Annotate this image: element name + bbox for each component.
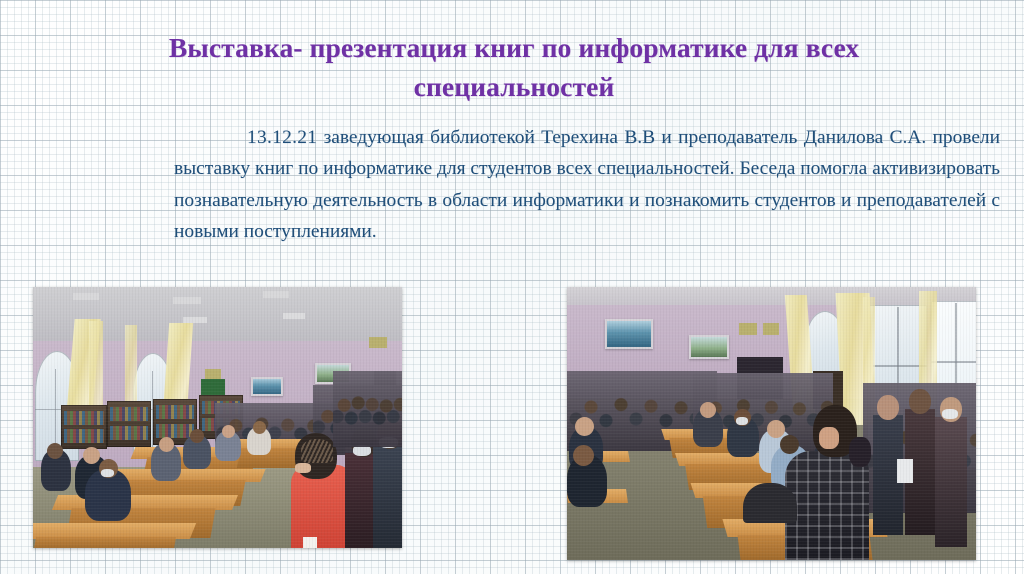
- photo-left: [33, 287, 402, 548]
- event-date: 13.12.21: [247, 127, 317, 148]
- photo-left-scene: [33, 287, 402, 548]
- slide-body-text: 13.12.21 заведующая библиотекой Терехина…: [174, 122, 1000, 248]
- slide-title: Выставка- презентация книг по информатик…: [168, 28, 860, 106]
- photo-right: [567, 287, 976, 560]
- photo-right-scene: [567, 287, 976, 560]
- presentation-slide: Выставка- презентация книг по информатик…: [0, 0, 1024, 574]
